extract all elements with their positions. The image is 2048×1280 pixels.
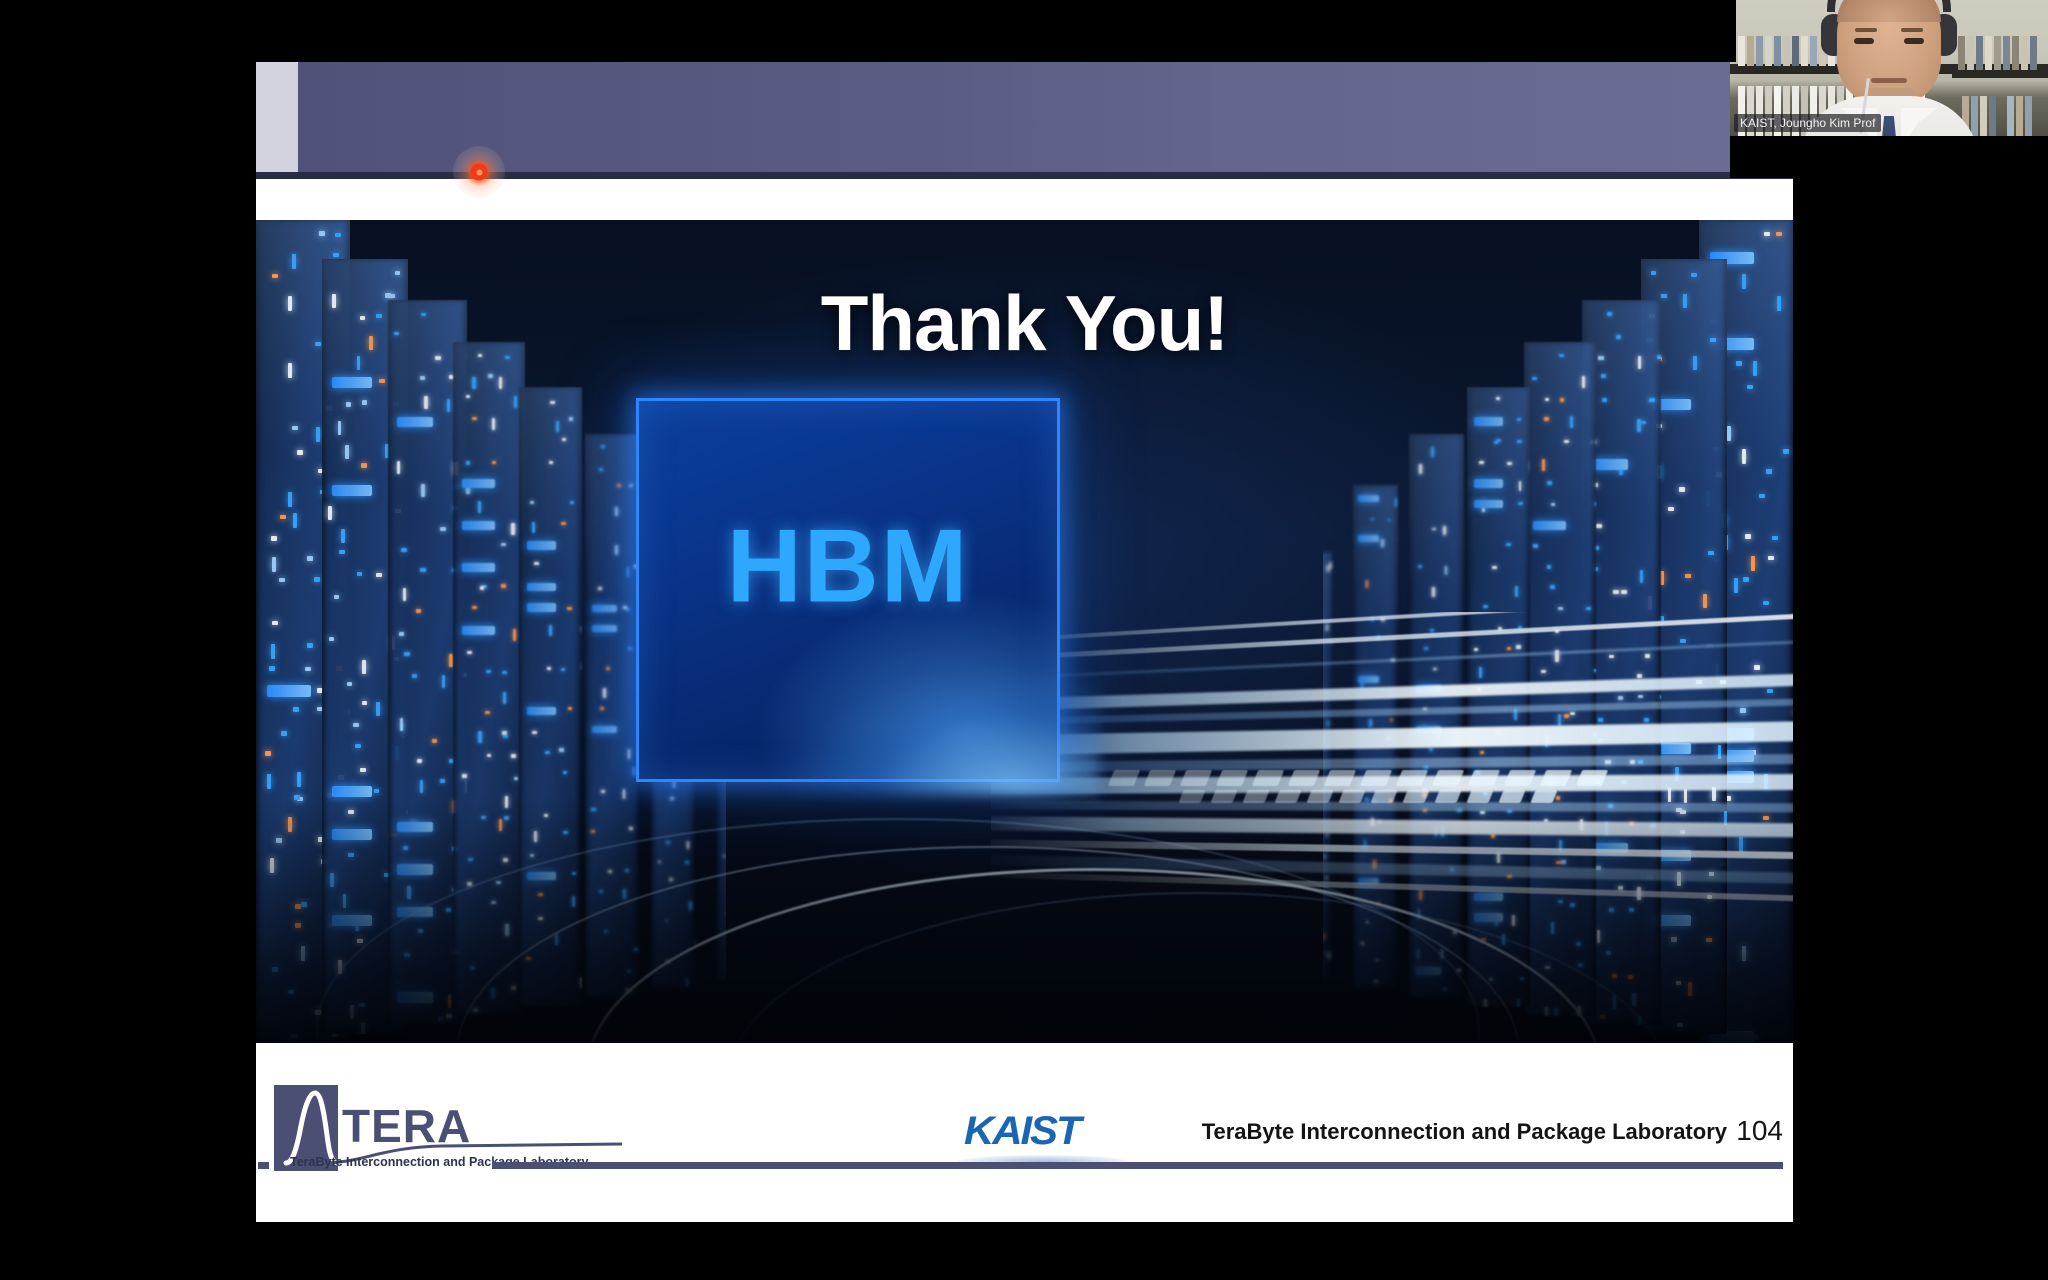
rack-led xyxy=(403,588,407,601)
rack-led xyxy=(333,253,339,258)
rack-led xyxy=(269,666,275,671)
rack-display-strip xyxy=(527,707,556,715)
rack-led xyxy=(1395,498,1397,507)
rack-led xyxy=(316,427,320,442)
speaker-brow-right xyxy=(1901,28,1923,32)
streak-dash-band xyxy=(1111,770,1605,786)
rack-led xyxy=(545,751,549,754)
rack-led xyxy=(1596,524,1601,528)
rack-display-strip xyxy=(592,625,617,632)
book-spine xyxy=(1774,36,1781,66)
rack-led xyxy=(1734,578,1738,593)
rack-display-strip xyxy=(1358,535,1379,541)
streak-dash xyxy=(1288,770,1320,786)
rack-led xyxy=(1492,566,1496,569)
rack-led xyxy=(1742,449,1746,464)
book-spine xyxy=(1958,36,1965,70)
rack-led xyxy=(1708,551,1714,555)
rack-led xyxy=(1517,440,1521,443)
rack-led xyxy=(569,417,573,420)
rack-led xyxy=(466,461,471,465)
rack-led xyxy=(1564,440,1569,444)
rack-led xyxy=(420,780,424,793)
kaist-wordmark: KAIST xyxy=(964,1109,1080,1154)
rack-led xyxy=(462,774,467,778)
rack-display-strip xyxy=(1474,500,1503,508)
rack-led xyxy=(1547,481,1552,485)
rack-led xyxy=(1330,562,1332,569)
book-spine xyxy=(2021,36,2028,70)
rack-led xyxy=(292,254,296,269)
rack-led xyxy=(549,625,552,636)
rack-led xyxy=(598,587,602,590)
rack-led xyxy=(397,461,401,474)
rack-led xyxy=(1783,449,1789,454)
rack-led xyxy=(472,377,475,389)
rack-led xyxy=(1727,426,1731,441)
rack-led xyxy=(353,723,359,727)
rack-led xyxy=(1544,417,1549,421)
rack-led xyxy=(307,643,313,648)
webcam-video-tile[interactable]: KAIST, Joungho Kim Prof xyxy=(1730,0,2048,178)
rack-led xyxy=(599,468,603,471)
bookshelf-board-right xyxy=(1952,70,2048,78)
rack-led xyxy=(319,231,325,236)
streak-dash xyxy=(1216,770,1248,786)
rack-led xyxy=(1602,398,1607,402)
speaker-hair xyxy=(1837,0,1941,22)
streak-dash xyxy=(1180,770,1212,786)
rack-led xyxy=(1776,232,1782,237)
rack-led xyxy=(395,271,401,275)
rack-led xyxy=(346,402,352,406)
rack-led xyxy=(347,682,353,686)
book-spine xyxy=(2003,36,2010,70)
rack-led xyxy=(362,400,368,404)
rack-led xyxy=(293,707,299,712)
rack-led xyxy=(530,501,534,504)
rack-led xyxy=(399,632,404,636)
rack-led xyxy=(532,522,535,533)
rack-display-strip xyxy=(462,563,495,572)
rack-led xyxy=(488,374,493,378)
rack-led xyxy=(1747,385,1753,390)
rack-led xyxy=(1772,536,1778,541)
screen: HBM Thank You! TERA TeraByte Interconnec… xyxy=(0,0,2048,1280)
rack-led xyxy=(492,418,495,430)
rack-led xyxy=(600,707,604,710)
slide-image-datacenter: HBM Thank You! xyxy=(256,220,1793,1043)
rack-led xyxy=(601,790,605,793)
rack-led xyxy=(1507,462,1511,465)
rack-led xyxy=(338,421,342,435)
rack-led xyxy=(1768,556,1774,561)
rack-led xyxy=(478,501,481,513)
rack-led xyxy=(357,572,363,576)
book-spine xyxy=(1998,96,2005,140)
rack-led xyxy=(1419,464,1422,474)
rack-led xyxy=(401,548,406,552)
rack-led xyxy=(339,550,345,554)
banner-left-tab xyxy=(256,62,298,172)
streak-dash xyxy=(1360,770,1392,786)
rack-led xyxy=(1518,502,1522,505)
rack-led xyxy=(503,735,508,739)
rack-led xyxy=(1766,469,1772,474)
rack-led xyxy=(478,731,481,743)
rack-led xyxy=(265,751,271,756)
rack-led xyxy=(1745,534,1751,539)
rack-led xyxy=(502,671,507,675)
rack-led xyxy=(1494,441,1498,444)
rack-led xyxy=(501,584,506,588)
slide-page-number: 104 xyxy=(1736,1115,1783,1147)
rack-led xyxy=(561,668,565,671)
rack-display-strip xyxy=(1592,459,1628,469)
rack-led xyxy=(447,399,451,412)
floor-vignette xyxy=(256,796,1793,1043)
rack-led xyxy=(633,767,636,777)
rack-led xyxy=(1764,232,1770,237)
rack-led xyxy=(376,573,382,577)
book-spine xyxy=(2025,96,2032,140)
rack-led xyxy=(563,771,567,774)
slide-footer: TERA TeraByte Interconnection and Packag… xyxy=(256,1043,1793,1222)
rack-led xyxy=(514,777,519,781)
hbm-glow xyxy=(664,620,1099,794)
rack-led xyxy=(1595,502,1596,506)
webcam-letterbox-left xyxy=(1730,0,1736,62)
rack-led xyxy=(628,749,631,759)
rack-led xyxy=(1601,374,1606,378)
book-spine xyxy=(1747,36,1754,66)
rack-led xyxy=(567,607,571,610)
streak-dash xyxy=(1252,770,1284,786)
rack-led xyxy=(288,492,292,507)
rack-led xyxy=(420,376,425,380)
rack-led xyxy=(1542,459,1545,471)
book-spine xyxy=(1738,36,1745,66)
rack-led xyxy=(562,438,566,441)
rack-led xyxy=(272,621,278,626)
rack-led xyxy=(424,396,428,409)
rack-led xyxy=(1418,565,1422,568)
rack-led xyxy=(472,417,477,421)
rack-led xyxy=(293,513,297,528)
rack-led xyxy=(329,637,335,641)
rack-led xyxy=(379,379,385,383)
rack-led xyxy=(513,629,516,641)
rack-led xyxy=(467,651,472,655)
rack-led xyxy=(514,396,517,408)
rack-led xyxy=(549,461,553,464)
streak-dash xyxy=(1324,770,1356,786)
rack-led xyxy=(305,667,311,672)
book-spine xyxy=(1783,36,1790,66)
rack-led xyxy=(559,748,563,751)
speaker-eye-right xyxy=(1904,38,1924,44)
streak-dash xyxy=(1396,770,1428,786)
rack-display-strip xyxy=(1474,417,1503,425)
light-streak xyxy=(991,612,1793,663)
book-spine xyxy=(1994,36,2001,70)
rack-display-strip xyxy=(527,603,556,611)
rack-led xyxy=(629,484,633,487)
rack-led xyxy=(1582,376,1585,388)
rack-led xyxy=(376,702,380,716)
hbm-chip-panel: HBM xyxy=(636,398,1060,782)
rack-display-strip xyxy=(462,626,495,635)
rack-led xyxy=(1637,419,1641,432)
banner-body xyxy=(298,62,1793,172)
rack-led xyxy=(1483,605,1487,608)
rack-led xyxy=(1445,566,1448,576)
rack-led xyxy=(314,577,320,582)
book-spine xyxy=(1980,96,1987,140)
speaker-mouth xyxy=(1871,78,1907,83)
rack-led xyxy=(1381,539,1383,548)
participant-name-label: KAIST, Joungho Kim Prof xyxy=(1734,114,1881,132)
book-spine xyxy=(2030,36,2037,70)
rack-display-strip xyxy=(527,583,556,591)
tera-wordmark: TERA xyxy=(342,1099,471,1153)
rack-led xyxy=(617,484,621,487)
rack-led xyxy=(279,578,285,583)
book-spine xyxy=(1801,36,1808,66)
rack-led xyxy=(432,739,437,743)
rack-led xyxy=(328,506,332,520)
rack-led xyxy=(511,754,516,758)
rack-led xyxy=(627,567,630,577)
book-spine xyxy=(1989,96,1996,140)
rack-led xyxy=(374,789,380,793)
rack-led xyxy=(606,667,610,670)
rack-led xyxy=(1560,398,1565,402)
rack-led xyxy=(442,675,446,688)
rack-led xyxy=(1759,494,1765,499)
rack-led xyxy=(1496,397,1500,400)
rack-led xyxy=(355,744,361,748)
rack-led xyxy=(271,536,277,541)
rack-led xyxy=(550,401,554,404)
rack-led xyxy=(1703,594,1707,608)
rack-led xyxy=(628,647,632,650)
streak-dash xyxy=(1504,770,1536,786)
rack-display-strip xyxy=(332,485,372,496)
light-streak xyxy=(991,637,1793,681)
rack-led xyxy=(511,523,514,535)
rack-led xyxy=(615,507,618,517)
rack-led xyxy=(1691,273,1697,277)
book-spine xyxy=(1756,36,1763,66)
rack-led xyxy=(334,595,340,599)
rack-led xyxy=(292,426,298,431)
rack-led xyxy=(280,515,286,520)
rack-led xyxy=(561,522,565,525)
rack-led xyxy=(615,545,618,555)
rack-led xyxy=(420,568,425,572)
streak-dash xyxy=(1540,770,1572,786)
rack-display-strip xyxy=(462,521,495,530)
rack-led xyxy=(297,772,301,787)
light-streak xyxy=(991,720,1793,756)
book-spine xyxy=(1765,36,1772,66)
rack-led xyxy=(1651,271,1657,275)
laser-pointer-cursor xyxy=(453,146,505,198)
rack-led xyxy=(1431,447,1434,457)
rack-led xyxy=(440,527,445,531)
book-spine xyxy=(1967,36,1974,70)
rack-led xyxy=(360,768,366,772)
rack-led xyxy=(1533,544,1538,548)
book-spine xyxy=(2012,36,2019,70)
rack-led xyxy=(1685,574,1691,578)
footer-caption: TeraByte Interconnection and Package Lab… xyxy=(1202,1119,1727,1145)
hbm-label: HBM xyxy=(639,508,1057,627)
rack-led xyxy=(603,688,606,698)
rack-led xyxy=(503,692,506,704)
book-spine xyxy=(1792,36,1799,66)
rack-led xyxy=(1668,507,1674,511)
rack-led xyxy=(281,731,287,736)
rack-led xyxy=(1751,556,1755,571)
rack-led xyxy=(1547,565,1552,569)
rack-led xyxy=(272,557,276,572)
rack-led xyxy=(404,652,409,656)
rack-led xyxy=(1613,590,1618,594)
rack-led xyxy=(341,529,345,543)
rack-display-strip xyxy=(1358,495,1379,501)
rack-led xyxy=(362,701,368,705)
rack-led xyxy=(440,779,445,783)
rack-led xyxy=(1570,416,1573,428)
laser-pointer-core xyxy=(471,164,488,181)
rack-led xyxy=(267,774,271,789)
rack-display-strip xyxy=(527,541,556,549)
rack-led xyxy=(1443,526,1446,536)
rack-led xyxy=(1558,607,1563,611)
rack-led xyxy=(345,445,349,459)
rack-led xyxy=(486,670,491,674)
rack-led xyxy=(361,463,367,467)
rack-led xyxy=(400,718,404,731)
rack-led xyxy=(362,660,366,674)
rack-led xyxy=(1640,570,1644,583)
rack-led xyxy=(568,707,572,710)
rack-led xyxy=(480,586,485,590)
rack-led xyxy=(335,233,341,238)
footer-rule-cap xyxy=(258,1162,269,1169)
rack-led xyxy=(501,543,506,547)
rack-display-strip xyxy=(592,605,617,612)
rack-led xyxy=(1763,601,1769,606)
rack-led xyxy=(1515,586,1518,597)
book-spine xyxy=(2007,96,2014,140)
streak-dash xyxy=(1144,770,1176,786)
rack-led xyxy=(421,484,425,497)
rack-display-strip xyxy=(592,726,617,733)
rack-led xyxy=(417,759,422,763)
rack-led xyxy=(1649,398,1654,402)
rack-led xyxy=(307,556,313,561)
book-spine xyxy=(1985,36,1992,70)
rack-led xyxy=(1432,587,1435,597)
footer-rule xyxy=(492,1162,1783,1169)
rack-led xyxy=(1517,418,1521,421)
rack-led xyxy=(499,377,502,389)
rack-led xyxy=(297,450,303,455)
rack-led xyxy=(1621,590,1626,594)
rack-led xyxy=(1479,461,1483,464)
streak-dash xyxy=(1432,770,1464,786)
rack-display-strip xyxy=(462,479,495,488)
rack-led xyxy=(582,665,583,668)
rack-led xyxy=(1550,585,1555,589)
rack-led xyxy=(1551,503,1556,507)
rack-led xyxy=(416,609,421,613)
rack-display-strip xyxy=(332,377,372,388)
streak-dash xyxy=(1468,770,1500,786)
rack-display-strip xyxy=(1474,479,1503,487)
rack-display-strip xyxy=(267,685,310,697)
book-spine xyxy=(1976,36,1983,70)
slide-title: Thank You! xyxy=(256,278,1793,369)
book-spine xyxy=(2016,96,2023,140)
bookshelf-books-right xyxy=(1958,36,2044,70)
rack-led xyxy=(1366,580,1368,589)
rack-led xyxy=(271,644,275,659)
rack-led xyxy=(534,562,538,565)
rack-display-strip xyxy=(1533,521,1566,530)
rack-led xyxy=(472,606,477,610)
rack-led xyxy=(485,711,490,715)
speaker-eye-left xyxy=(1854,38,1874,44)
rack-led xyxy=(1586,607,1591,611)
bookshelf-items-right xyxy=(1962,96,2042,140)
book-spine xyxy=(1810,36,1817,66)
rack-display-strip xyxy=(397,417,433,427)
rack-led xyxy=(1743,577,1749,582)
presentation-slide[interactable]: HBM Thank You! TERA TeraByte Interconnec… xyxy=(256,62,1793,1222)
webcam-letterbox-bottom xyxy=(1730,136,2048,178)
rack-led xyxy=(412,674,417,678)
streak-dash xyxy=(1108,770,1140,786)
speaker-brow-left xyxy=(1855,28,1877,32)
streak-dash xyxy=(1576,770,1608,786)
rack-led xyxy=(532,731,536,734)
tera-lab-logo: TERA TeraByte Interconnection and Packag… xyxy=(274,1085,614,1171)
rack-led xyxy=(1679,487,1685,491)
rack-led xyxy=(1506,543,1510,546)
rack-led xyxy=(556,421,559,432)
